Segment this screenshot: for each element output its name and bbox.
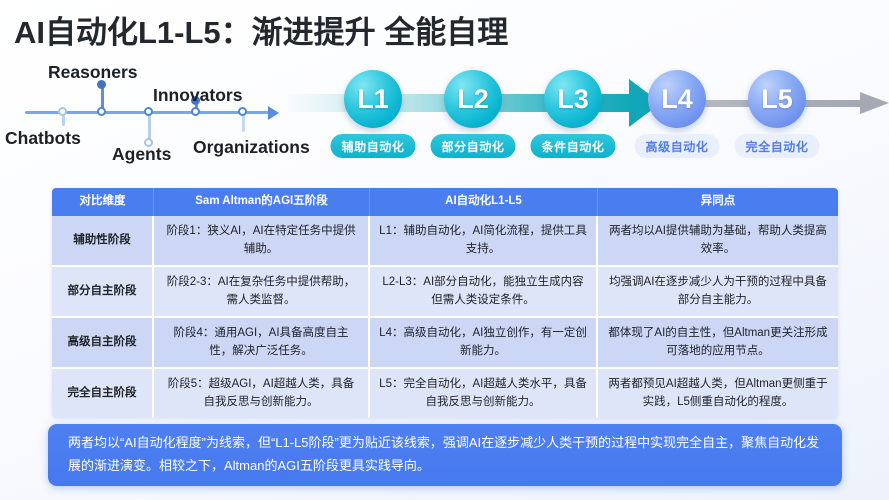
table-cell-levels: L5：完全自动化，AI超越人类水平，具备自我反思与创新能力。 [370,369,598,418]
level-node-l5[interactable]: L5 完全自动化 [748,70,806,128]
timeline-dot [97,107,106,116]
table-cell-levels: L4：高级自动化，AI独立创作，有一定创新能力。 [370,318,598,367]
timeline-dot [58,107,67,116]
timeline-arrowhead-icon [268,106,279,120]
table-cell-comparison: 都体现了AI的自主性，但Altman更关注形成可落地的应用节点。 [598,318,838,367]
table-cell-comparison: 两者都预见AI超越人类，但Altman更侧重于实践，L5侧重自动化的程度。 [598,369,838,418]
table-cell-altman: 阶段1：狭义AI，AI在特定任务中提供辅助。 [154,216,370,265]
level-label-l1: 辅助自动化 [330,134,415,158]
table-row: 辅助性阶段 阶段1：狭义AI，AI在特定任务中提供辅助。 L1：辅助自动化，AI… [52,216,838,267]
level-badge-l2: L2 [444,70,502,128]
table-row: 高级自主阶段 阶段4：通用AGI，AI具备高度自主性，解决广泛任务。 L4：高级… [52,318,838,369]
timeline-dot [191,107,200,116]
level-node-l2[interactable]: L2 部分自动化 [444,70,502,128]
table-cell-comparison: 均强调AI在逐步减少人为干预的过程中具备部分自主能力。 [598,267,838,316]
agi-stage-timeline: Chatbots Reasoners Agents Innovators [0,58,300,170]
timeline-dot [238,107,247,116]
timeline-stem [242,114,245,132]
table-cell-dimension: 辅助性阶段 [52,216,154,265]
level-label-l2: 部分自动化 [430,134,515,158]
table-cell-dimension: 完全自主阶段 [52,369,154,418]
table-cell-dimension: 高级自主阶段 [52,318,154,367]
timeline-label-agents: Agents [112,144,171,165]
table-row: 部分自主阶段 阶段2-3：AI在复杂任务中提供帮助，需人类监督。 L2-L3：A… [52,267,838,318]
timeline-dot [144,107,153,116]
level-label-l4: 高级自动化 [634,134,719,158]
level-node-l1[interactable]: L1 辅助自动化 [344,70,402,128]
table-body: 辅助性阶段 阶段1：狭义AI，AI在特定任务中提供辅助。 L1：辅助自动化，AI… [52,216,838,418]
table-cell-altman: 阶段4：通用AGI，AI具备高度自主性，解决广泛任务。 [154,318,370,367]
level-node-l3[interactable]: L3 条件自动化 [544,70,602,128]
automation-level-flow: L1 辅助自动化 L2 部分自动化 L3 条件自动化 L4 高级自动化 L5 完… [288,58,889,170]
table-header-cell: 异同点 [598,188,838,216]
level-badge-l1: L1 [344,70,402,128]
page-title: AI自动化L1-L5：渐进提升 全能自理 [0,7,508,52]
table-cell-altman: 阶段5：超级AGI，AI超越人类，具备自我反思与创新能力。 [154,369,370,418]
table-cell-comparison: 两者均以AI提供辅助为基础，帮助人类提高效率。 [598,216,838,265]
table-header-row: 对比维度 Sam Altman的AGI五阶段 AI自动化L1-L5 异同点 [52,188,838,216]
infographic-page: AI自动化L1-L5：渐进提升 全能自理 Chatbots Reasoners … [0,0,889,500]
table-cell-dimension: 部分自主阶段 [52,267,154,316]
level-badge-l4: L4 [648,70,706,128]
level-badge-l3: L3 [544,70,602,128]
summary-banner: 两者均以“AI自动化程度”为线索，但“L1-L5阶段”更为贴近该线索，强调AI在… [48,424,842,486]
table-cell-levels: L2-L3：AI部分自动化，能独立生成内容但需人类设定条件。 [370,267,598,316]
table-cell-altman: 阶段2-3：AI在复杂任务中提供帮助，需人类监督。 [154,267,370,316]
table-header-cell: AI自动化L1-L5 [370,188,598,216]
table-header-cell: 对比维度 [52,188,154,216]
level-label-l5: 完全自动化 [734,134,819,158]
level-badge-l5: L5 [748,70,806,128]
timeline-label-chatbots: Chatbots [5,128,81,149]
table-row: 完全自主阶段 阶段5：超级AGI，AI超越人类，具备自我反思与创新能力。 L5：… [52,369,838,418]
comparison-table: 对比维度 Sam Altman的AGI五阶段 AI自动化L1-L5 异同点 辅助… [52,188,838,418]
level-label-l3: 条件自动化 [530,134,615,158]
table-header-cell: Sam Altman的AGI五阶段 [154,188,370,216]
timeline-label-innovators: Innovators [153,85,242,106]
level-node-l4[interactable]: L4 高级自动化 [648,70,706,128]
summary-banner-text: 两者均以“AI自动化程度”为线索，但“L1-L5阶段”更为贴近该线索，强调AI在… [68,432,822,478]
title-bar: AI自动化L1-L5：渐进提升 全能自理 [0,0,889,58]
table-header: 对比维度 Sam Altman的AGI五阶段 AI自动化L1-L5 异同点 [52,188,838,216]
timeline-label-reasoners: Reasoners [48,62,138,83]
table-cell-levels: L1：辅助自动化，AI简化流程，提供工具支持。 [370,216,598,265]
